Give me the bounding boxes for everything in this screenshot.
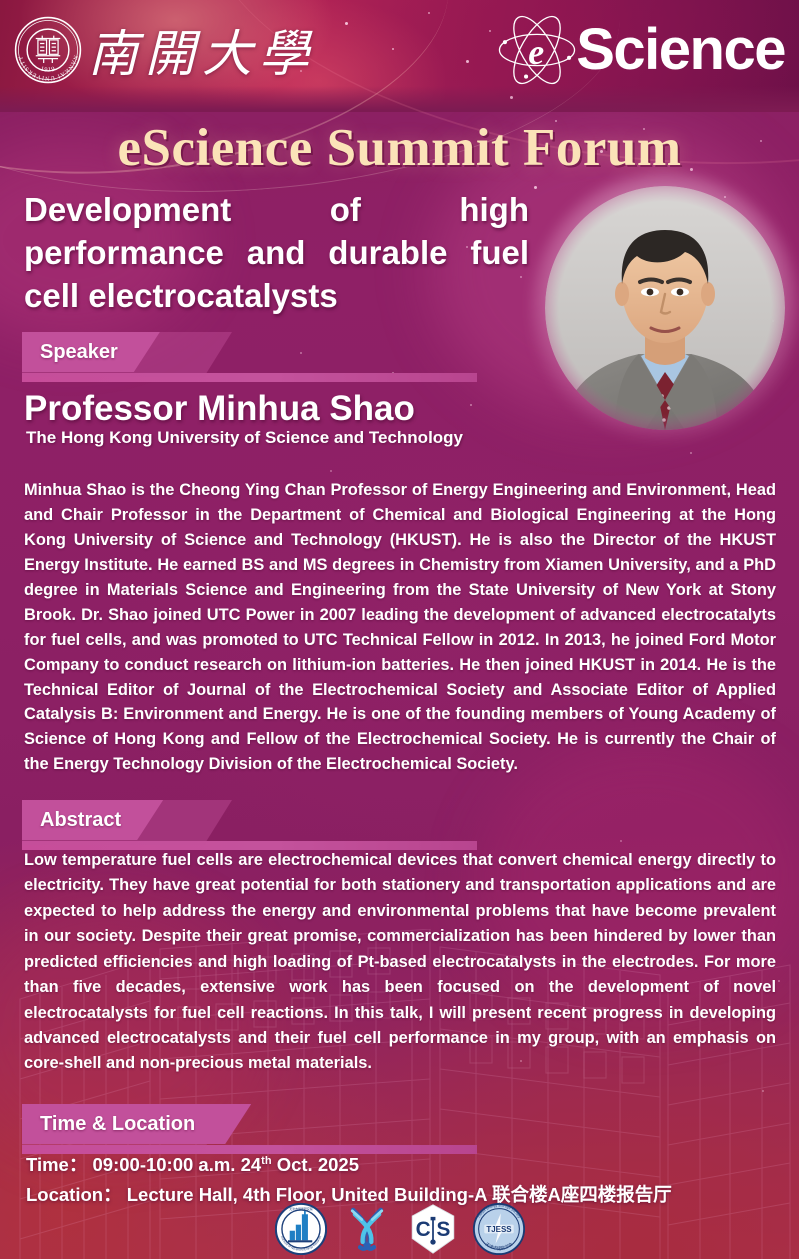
- talk-title: Development of high performance and dura…: [24, 189, 529, 318]
- cts-logo-icon: C S: [407, 1203, 459, 1255]
- svg-text:天津市储能研究院: 天津市储能研究院: [289, 1206, 313, 1211]
- tjess-logo-icon: TJESS Tianjin Energy Storage Society 天津市…: [473, 1203, 525, 1255]
- abstract-text: Low temperature fuel cells are electroch…: [24, 848, 776, 1077]
- svg-text:TJESS: TJESS: [486, 1225, 511, 1234]
- location-label: Location：: [26, 1184, 122, 1205]
- time-location-section-label: Time & Location: [22, 1104, 251, 1144]
- speaker-section-banner: Speaker: [22, 332, 782, 386]
- svg-text:1919: 1919: [40, 65, 57, 73]
- speaker-bio: Minhua Shao is the Cheong Ying Chan Prof…: [24, 478, 776, 777]
- time-value-post: Oct. 2025: [272, 1154, 359, 1175]
- speaker-affiliation: The Hong Kong University of Science and …: [26, 428, 463, 448]
- time-line: Time： 09:00-10:00 a.m. 24th Oct. 2025: [26, 1150, 672, 1180]
- poster: NANKAI UNIVERSITY 1919 南開大學: [0, 0, 799, 1259]
- tianjin-institute-logo-icon: 天津市储能研究院 Institute of Advanced Energy Re…: [275, 1203, 327, 1255]
- nankai-university-seal-icon: NANKAI UNIVERSITY 1919: [12, 14, 84, 86]
- speaker-portrait: [545, 186, 785, 430]
- location-value: Lecture Hall, 4th Floor, United Building…: [127, 1184, 672, 1205]
- escience-wordmark: Science: [576, 21, 785, 79]
- time-value-pre: 09:00-10:00 a.m. 24: [93, 1154, 262, 1175]
- atom-orbit-e-icon: e: [494, 14, 580, 86]
- time-label: Time：: [26, 1154, 87, 1175]
- abstract-section-banner: Abstract: [22, 800, 782, 854]
- time-location-details: Time： 09:00-10:00 a.m. 24th Oct. 2025 Lo…: [26, 1150, 672, 1210]
- poster-header: NANKAI UNIVERSITY 1919 南開大學: [0, 0, 799, 112]
- time-ordinal: th: [261, 1155, 271, 1167]
- portrait-image: [545, 186, 785, 430]
- svg-text:e: e: [528, 32, 544, 72]
- speaker-name: Professor Minhua Shao: [24, 389, 415, 429]
- escience-logo: e Science: [494, 10, 785, 90]
- crossed-ribbon-logo-icon: [341, 1203, 393, 1255]
- forum-title: eScience Summit Forum: [0, 118, 799, 178]
- nankai-university-wordmark: 南開大學: [88, 14, 348, 86]
- sponsor-logo-row: 天津市储能研究院 Institute of Advanced Energy Re…: [0, 1203, 799, 1255]
